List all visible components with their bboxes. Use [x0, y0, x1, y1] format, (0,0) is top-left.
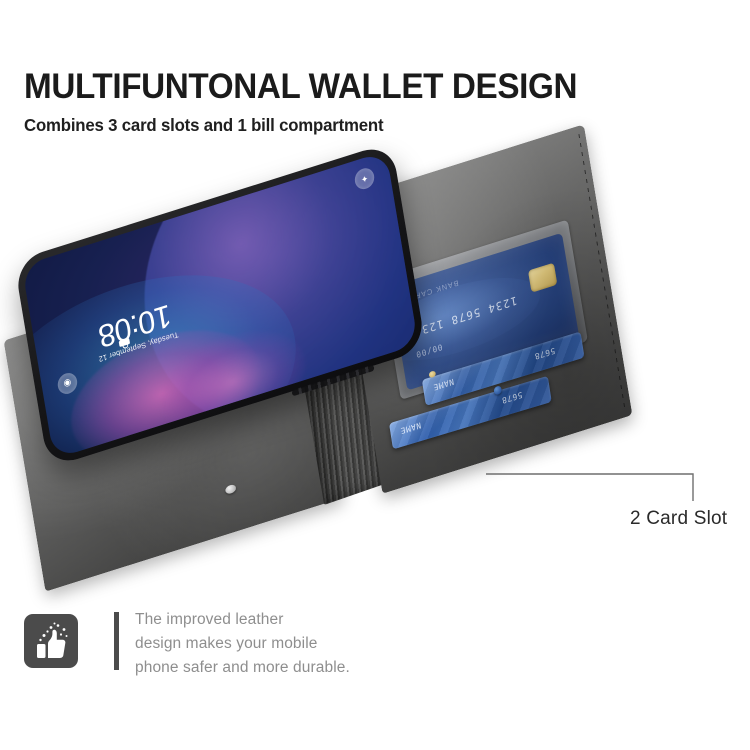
card-chip-icon: [528, 263, 557, 293]
thumbs-up-glyph: [24, 614, 78, 668]
header-block: MULTIFUNTONAL WALLET DESIGN Combines 3 c…: [24, 66, 724, 136]
footer-text: The improved leather design makes your m…: [135, 608, 350, 680]
footer-line-2: design makes your mobile: [135, 632, 350, 656]
page-subtitle: Combines 3 card slots and 1 bill compart…: [24, 114, 696, 136]
snap-rivet: [225, 484, 237, 495]
thumbs-up-icon: [24, 614, 78, 668]
page-title: MULTIFUNTONAL WALLET DESIGN: [24, 66, 689, 108]
stitching: [578, 134, 625, 409]
footer-line-1: The improved leather: [135, 608, 350, 632]
card3-number: 5678: [501, 390, 523, 405]
footer-line-3: phone safer and more durable.: [135, 656, 350, 680]
card2-name: NAME: [432, 377, 454, 392]
product-infographic: MULTIFUNTONAL WALLET DESIGN Combines 3 c…: [0, 0, 750, 750]
card2-number: 5678: [534, 346, 556, 361]
card3-name: NAME: [400, 420, 422, 435]
footer-feature: The improved leather design makes your m…: [24, 608, 350, 680]
callout-label: 2 Card Slot: [630, 508, 727, 530]
footer-divider: [114, 612, 119, 670]
